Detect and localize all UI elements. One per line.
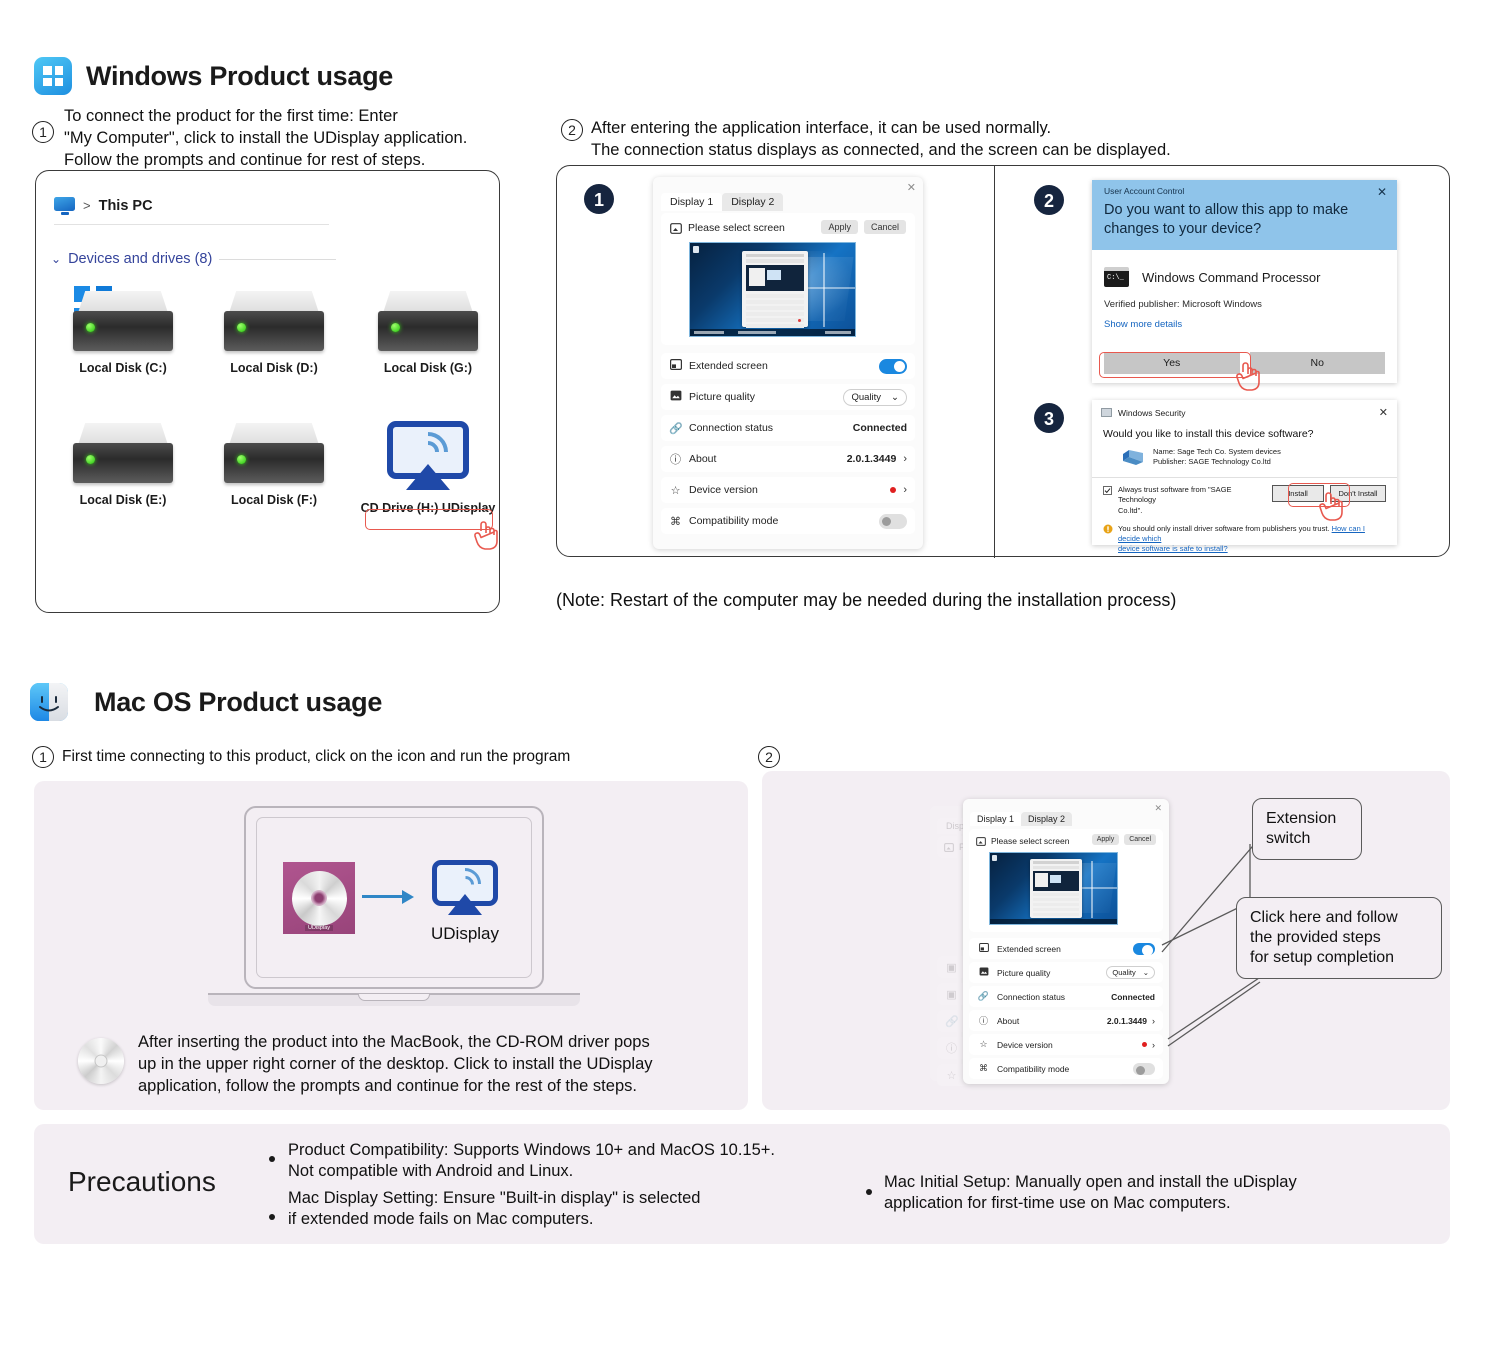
breadcrumb-label: This PC bbox=[99, 198, 153, 214]
mac-note-line2: up in the upper right corner of the desk… bbox=[138, 1054, 738, 1076]
mac-step-1-marker: 1 bbox=[32, 746, 54, 768]
explorer-panel: > This PC ⌄ Devices and drives (8) Local… bbox=[35, 170, 500, 613]
uac-yes-highlight-box bbox=[1099, 352, 1251, 378]
screen-select-icon bbox=[976, 837, 986, 846]
mac-nested-app-window-preview bbox=[1030, 859, 1082, 918]
mac-extended-screen-toggle[interactable] bbox=[1133, 943, 1155, 955]
link-icon: 🔗 bbox=[669, 422, 682, 435]
mac-select-screen-card: Please select screen Apply Cancel bbox=[969, 829, 1163, 932]
hdd-icon bbox=[378, 291, 478, 353]
taskbar-preview bbox=[690, 329, 855, 336]
uac-question-line2: changes to your device? bbox=[1104, 220, 1385, 239]
row-label: Connection status bbox=[689, 422, 853, 434]
precaution-item-1: Product Compatibility: Supports Windows … bbox=[288, 1140, 848, 1183]
hdd-icon bbox=[224, 423, 324, 485]
row-label: Extended screen bbox=[689, 360, 879, 372]
chevron-right-icon: › bbox=[903, 453, 907, 465]
svg-text:3: 3 bbox=[1044, 409, 1054, 429]
callout-extension-switch: Extension switch bbox=[1252, 798, 1362, 860]
uac-title: User Account Control bbox=[1104, 186, 1385, 196]
precaution-item-3: Mac Initial Setup: Manually open and ins… bbox=[884, 1172, 1444, 1215]
cancel-button[interactable]: Cancel bbox=[864, 220, 906, 234]
callout2-line3: for setup completion bbox=[1250, 948, 1428, 968]
drive-item-g[interactable]: Local Disk (G:) bbox=[353, 291, 503, 375]
row-about[interactable]: ⓘ About 2.0.1.3449 › bbox=[661, 446, 915, 472]
uac-app-name: Windows Command Processor bbox=[1142, 270, 1320, 285]
image-icon bbox=[977, 967, 990, 979]
info-icon: ⓘ bbox=[977, 1014, 990, 1027]
drive-label: Local Disk (C:) bbox=[48, 361, 198, 375]
bullet-icon bbox=[866, 1189, 872, 1195]
mac-section-header: Mac OS Product usage bbox=[30, 683, 382, 721]
mac-row-picture-quality[interactable]: Picture quality Quality ⌄ bbox=[969, 962, 1163, 983]
mac-picture-quality-value: Quality bbox=[1112, 968, 1135, 977]
uac-publisher: Verified publisher: Microsoft Windows bbox=[1104, 299, 1385, 310]
callout1-line2: switch bbox=[1266, 829, 1348, 849]
row-extended-screen[interactable]: Extended screen bbox=[661, 353, 915, 379]
breadcrumb[interactable]: > This PC bbox=[54, 197, 329, 225]
precaution-item-2: Mac Display Setting: Ensure "Built-in di… bbox=[288, 1188, 848, 1231]
checkbox-checked-icon[interactable] bbox=[1103, 486, 1112, 495]
row-label: Connection status bbox=[997, 992, 1111, 1002]
screen-select-icon bbox=[670, 223, 682, 234]
row-device-version[interactable]: ☆ Device version › bbox=[661, 477, 915, 503]
mac-step-2-marker: 2 bbox=[758, 746, 780, 768]
row-picture-quality[interactable]: Picture quality Quality ⌄ bbox=[661, 384, 915, 410]
udisplay-app-window: ✕ Display 1 Display 2 Please select scre… bbox=[653, 177, 923, 549]
chevron-right-icon: › bbox=[903, 484, 907, 496]
callout-click-here: Click here and follow the provided steps… bbox=[1236, 897, 1442, 979]
mac-apply-button[interactable]: Apply bbox=[1092, 834, 1120, 845]
chevron-down-icon: ⌄ bbox=[51, 252, 61, 266]
this-pc-icon bbox=[54, 197, 75, 214]
security-warn-text: You should only install driver software … bbox=[1118, 524, 1330, 533]
display-tabs: Display 1 Display 2 bbox=[661, 193, 783, 211]
cd-rom-tile[interactable]: UDisplay bbox=[283, 862, 355, 934]
tab-display-2[interactable]: Display 2 bbox=[722, 193, 783, 211]
star-icon: ☆ bbox=[669, 484, 682, 497]
hdd-icon bbox=[224, 291, 324, 353]
drive-label: Local Disk (F:) bbox=[199, 493, 349, 507]
security-trust-line1: Always trust software from "SAGE Technol… bbox=[1118, 485, 1266, 505]
link-icon: 🔗 bbox=[977, 991, 990, 1002]
mac-udisplay-app-window: ✕ Display 1 Display 2 Please select scre… bbox=[963, 799, 1169, 1084]
security-question: Would you like to install this device so… bbox=[1092, 423, 1397, 447]
chevron-right-icon: › bbox=[1152, 1040, 1155, 1050]
drive-label: Local Disk (D:) bbox=[199, 361, 349, 375]
row-label: About bbox=[689, 453, 847, 465]
mac-note-line3: application, follow the prompts and cont… bbox=[138, 1076, 738, 1098]
udisplay-app-label: UDisplay bbox=[430, 924, 500, 944]
extend-screen-icon bbox=[977, 943, 990, 954]
precaution-2-line1: Mac Display Setting: Ensure "Built-in di… bbox=[288, 1188, 848, 1209]
drive-item-c[interactable]: Local Disk (C:) bbox=[48, 291, 198, 375]
macbook-notch bbox=[358, 994, 430, 1001]
precaution-3-line1: Mac Initial Setup: Manually open and ins… bbox=[884, 1172, 1444, 1193]
windows-dialog-marker-1: 1 bbox=[583, 183, 615, 215]
windows-step1-line2: "My Computer", click to install the UDis… bbox=[64, 128, 544, 150]
drive-label: Local Disk (G:) bbox=[353, 361, 503, 375]
mac-select-screen-label: Please select screen bbox=[991, 836, 1069, 846]
precaution-1-line2: Not compatible with Android and Linux. bbox=[288, 1161, 848, 1182]
mac-row-extended-screen[interactable]: Extended screen bbox=[969, 938, 1163, 959]
drive-item-udisplay[interactable]: CD Drive (H:) UDisplay bbox=[353, 421, 503, 515]
precaution-1-line1: Product Compatibility: Supports Windows … bbox=[288, 1140, 848, 1161]
mac-tab-display-2[interactable]: Display 2 bbox=[1021, 812, 1072, 826]
chevron-right-icon: › bbox=[1152, 1016, 1155, 1026]
uac-header: User Account Control ✕ Do you want to al… bbox=[1092, 180, 1397, 250]
install-note: (Note: Restart of the computer may be ne… bbox=[556, 589, 1176, 613]
arrow-right-icon bbox=[362, 895, 404, 898]
uac-body: C:\_ Windows Command Processor Verified … bbox=[1092, 250, 1397, 338]
update-dot-indicator bbox=[890, 487, 896, 493]
show-more-details-link[interactable]: Show more details bbox=[1104, 319, 1385, 330]
update-dot-indicator bbox=[1142, 1042, 1147, 1047]
drive-label: Local Disk (E:) bbox=[48, 493, 198, 507]
udisplay-app-icon-block[interactable]: UDisplay bbox=[430, 860, 500, 944]
mac-tab-display-1[interactable]: Display 1 bbox=[970, 812, 1021, 826]
row-label: Compatibility mode bbox=[997, 1064, 1133, 1074]
row-label: Picture quality bbox=[997, 968, 1106, 978]
about-version-value: 2.0.1.3449 bbox=[847, 453, 897, 465]
security-title: Windows Security bbox=[1118, 408, 1186, 418]
command-icon: ⌘ bbox=[977, 1063, 990, 1074]
drive-item-d[interactable]: Local Disk (D:) bbox=[199, 291, 349, 375]
mac-display-tabs: Display 1 Display 2 bbox=[970, 812, 1072, 826]
click-hand-icon bbox=[1318, 492, 1344, 522]
mac-compatibility-mode-toggle[interactable] bbox=[1133, 1063, 1155, 1075]
windows-step-1-marker: 1 bbox=[32, 121, 54, 143]
tab-display-1[interactable]: Display 1 bbox=[661, 193, 722, 211]
mac-row-about[interactable]: ⓘ About 2.0.1.3449 › bbox=[969, 1010, 1163, 1031]
device-icon bbox=[1122, 448, 1144, 466]
security-marker-3: 3 bbox=[1033, 402, 1065, 434]
mac-desktop-preview-thumbnail[interactable] bbox=[989, 852, 1118, 925]
mac-row-compatibility-mode[interactable]: ⌘ Compatibility mode bbox=[969, 1058, 1163, 1079]
precautions-title: Precautions bbox=[68, 1166, 216, 1198]
windows-step1-line1: To connect the product for the first tim… bbox=[64, 106, 544, 128]
mac-section-title: Mac OS Product usage bbox=[94, 687, 382, 718]
uac-question: Do you want to allow this app to make ch… bbox=[1104, 201, 1385, 238]
windows-security-dialog: Windows Security ✕ Would you like to ins… bbox=[1092, 400, 1397, 545]
uac-question-line1: Do you want to allow this app to make bbox=[1104, 201, 1385, 220]
arrow-head-icon bbox=[402, 890, 414, 904]
uac-marker-2: 2 bbox=[1033, 184, 1065, 216]
bullet-icon bbox=[269, 1156, 275, 1162]
devices-group-label: Devices and drives (8) bbox=[68, 251, 212, 267]
precaution-2-line2: if extended mode fails on Mac computers. bbox=[288, 1209, 848, 1230]
bullet-icon bbox=[269, 1214, 275, 1220]
nested-app-window-preview bbox=[742, 251, 808, 327]
warning-icon bbox=[1103, 524, 1113, 534]
click-hand-icon bbox=[1235, 362, 1261, 392]
cd-disc-icon bbox=[292, 871, 347, 926]
finder-face-icon bbox=[30, 683, 68, 721]
windows-section-header: Windows Product usage bbox=[34, 57, 393, 95]
drive-item-e[interactable]: Local Disk (E:) bbox=[48, 423, 198, 507]
windows-step-2-text: After entering the application interface… bbox=[591, 118, 1291, 162]
star-icon: ☆ bbox=[977, 1039, 990, 1050]
desktop-preview-thumbnail[interactable] bbox=[689, 242, 856, 337]
callout2-line2: the provided steps bbox=[1250, 928, 1428, 948]
extended-screen-toggle[interactable] bbox=[879, 359, 907, 374]
picture-quality-select[interactable]: Quality ⌄ bbox=[843, 389, 907, 406]
group-rule bbox=[219, 259, 336, 260]
windows-section-title: Windows Product usage bbox=[86, 61, 393, 92]
hdd-icon bbox=[73, 291, 173, 353]
svg-text:1: 1 bbox=[594, 190, 604, 210]
row-label: Device version bbox=[997, 1040, 1142, 1050]
udisplay-cast-icon bbox=[432, 860, 498, 914]
precaution-3-line2: application for first-time use on Mac co… bbox=[884, 1193, 1444, 1214]
drive-item-f[interactable]: Local Disk (F:) bbox=[199, 423, 349, 507]
security-name-line: Name: Sage Tech Co. System devices bbox=[1153, 447, 1281, 457]
windows-logo-icon bbox=[34, 57, 72, 95]
info-icon: ⓘ bbox=[669, 451, 682, 467]
security-warn-link2[interactable]: device software is safe to install? bbox=[1118, 544, 1228, 553]
row-compatibility-mode[interactable]: ⌘ Compatibility mode bbox=[661, 508, 915, 534]
row-label: Extended screen bbox=[997, 944, 1133, 954]
command-icon: ⌘ bbox=[669, 515, 682, 528]
mac-cancel-button[interactable]: Cancel bbox=[1124, 834, 1156, 845]
mac-picture-quality-select[interactable]: Quality ⌄ bbox=[1106, 966, 1155, 979]
image-icon bbox=[669, 390, 682, 404]
mac-step-1-text: First time connecting to this product, c… bbox=[62, 747, 570, 767]
mac-row-connection-status[interactable]: 🔗 Connection status Connected bbox=[969, 986, 1163, 1007]
chevron-down-icon: ⌄ bbox=[891, 392, 899, 403]
row-label: Compatibility mode bbox=[689, 515, 879, 527]
manual-page: Windows Product usage 1 To connect the p… bbox=[0, 0, 1500, 1346]
cd-tile-label: UDisplay bbox=[305, 925, 333, 931]
row-label: About bbox=[997, 1016, 1107, 1026]
compatibility-mode-toggle[interactable] bbox=[879, 514, 907, 529]
chevron-down-icon: ⌄ bbox=[1143, 968, 1149, 977]
shield-icon bbox=[1101, 408, 1112, 417]
windows-step2-line2: The connection status displays as connec… bbox=[591, 140, 1291, 162]
mac-note-line1: After inserting the product into the Mac… bbox=[138, 1032, 738, 1054]
row-label: Device version bbox=[689, 484, 890, 496]
apply-button[interactable]: Apply bbox=[821, 220, 858, 234]
windows-step2-line1: After entering the application interface… bbox=[591, 118, 1291, 140]
mac-connection-status-value: Connected bbox=[1111, 992, 1155, 1002]
mac-about-version-value: 2.0.1.3449 bbox=[1107, 1016, 1147, 1026]
command-prompt-icon: C:\_ bbox=[1104, 267, 1129, 287]
mac-install-note: After inserting the product into the Mac… bbox=[138, 1032, 738, 1097]
mac-row-device-version[interactable]: ☆ Device version › bbox=[969, 1034, 1163, 1055]
connection-status-value: Connected bbox=[853, 422, 907, 434]
svg-text:2: 2 bbox=[1044, 191, 1054, 211]
close-icon[interactable]: ✕ bbox=[1154, 803, 1162, 814]
click-hand-icon bbox=[473, 521, 499, 551]
windows-step1-line3: Follow the prompts and continue for rest… bbox=[64, 150, 544, 172]
extend-screen-icon bbox=[669, 359, 682, 373]
windows-step-1-text: To connect the product for the first tim… bbox=[64, 106, 544, 171]
windows-step-2-marker: 2 bbox=[561, 119, 583, 141]
select-screen-card: Please select screen Apply Cancel bbox=[661, 213, 915, 345]
finder-icon bbox=[30, 683, 68, 721]
security-trust-line2: Co.ltd". bbox=[1118, 506, 1266, 516]
picture-quality-value: Quality bbox=[851, 392, 881, 403]
close-icon[interactable]: ✕ bbox=[907, 181, 916, 194]
breadcrumb-chevron-icon: > bbox=[83, 198, 91, 213]
devices-group-header[interactable]: ⌄ Devices and drives (8) bbox=[51, 251, 336, 267]
security-publisher-line: Publisher: SAGE Technology Co.ltd bbox=[1153, 457, 1281, 467]
select-screen-label: Please select screen bbox=[688, 222, 785, 234]
close-icon[interactable]: ✕ bbox=[1379, 406, 1388, 419]
hdd-icon bbox=[73, 423, 173, 485]
callout1-line1: Extension bbox=[1266, 809, 1348, 829]
uac-no-button[interactable]: No bbox=[1250, 352, 1386, 374]
callout2-line1: Click here and follow bbox=[1250, 908, 1428, 928]
row-label: Picture quality bbox=[689, 391, 843, 403]
row-connection-status[interactable]: 🔗 Connection status Connected bbox=[661, 415, 915, 441]
close-icon[interactable]: ✕ bbox=[1377, 185, 1387, 199]
cd-disc-icon bbox=[78, 1038, 124, 1084]
udisplay-cast-icon bbox=[387, 421, 469, 489]
